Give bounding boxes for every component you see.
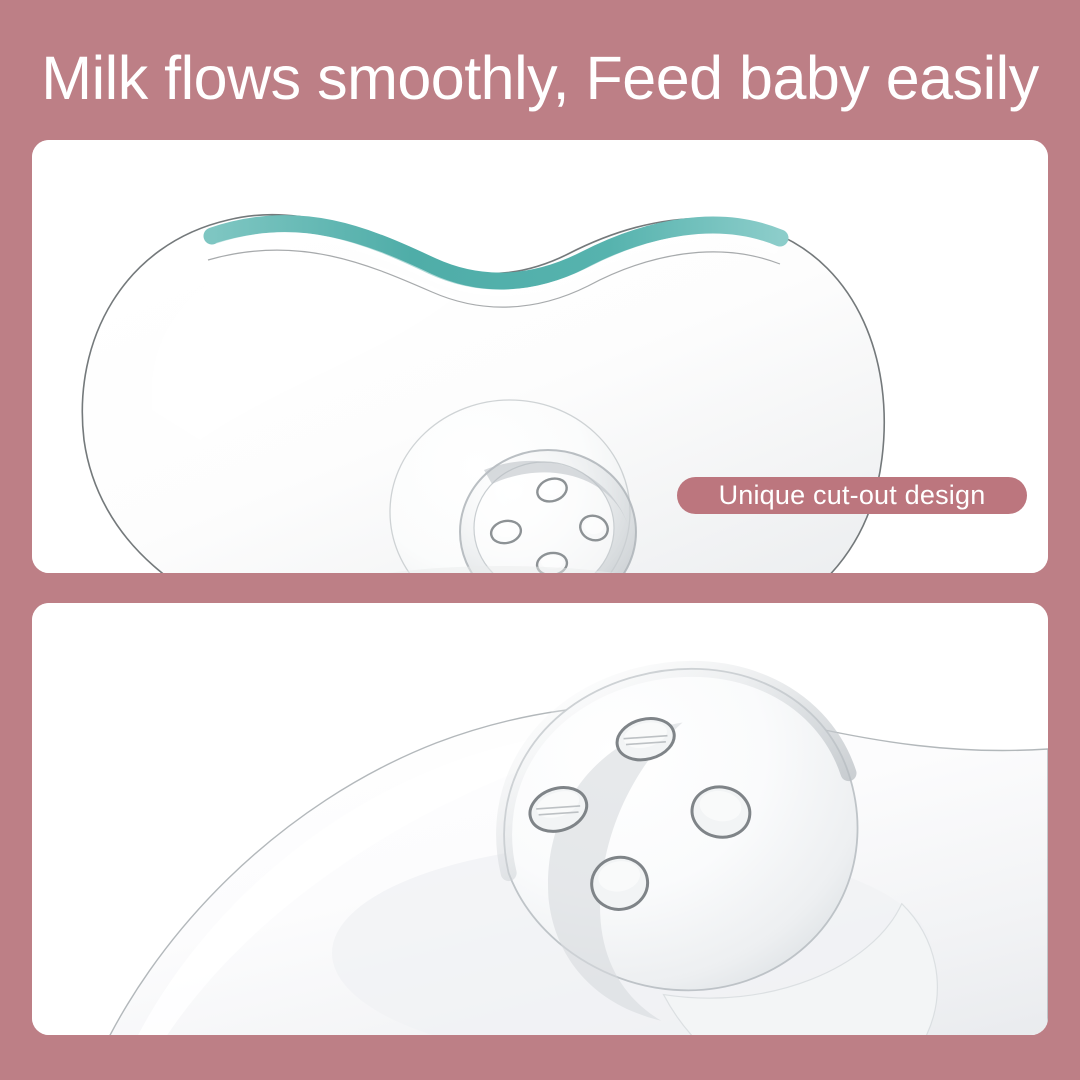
product-feature-graphic: Milk flows smoothly, Feed baby easily: [0, 0, 1080, 1080]
callout-unique-cut-out-design[interactable]: Unique cut-out design: [677, 477, 1027, 514]
feature-card-diameter: Diameter: 2mm: [32, 603, 1048, 1035]
feature-card-cutout: Unique cut-out design: [32, 140, 1048, 573]
page-title: Milk flows smoothly, Feed baby easily: [0, 46, 1080, 110]
nipple-shield-closeup-illustration: [32, 603, 1048, 1035]
